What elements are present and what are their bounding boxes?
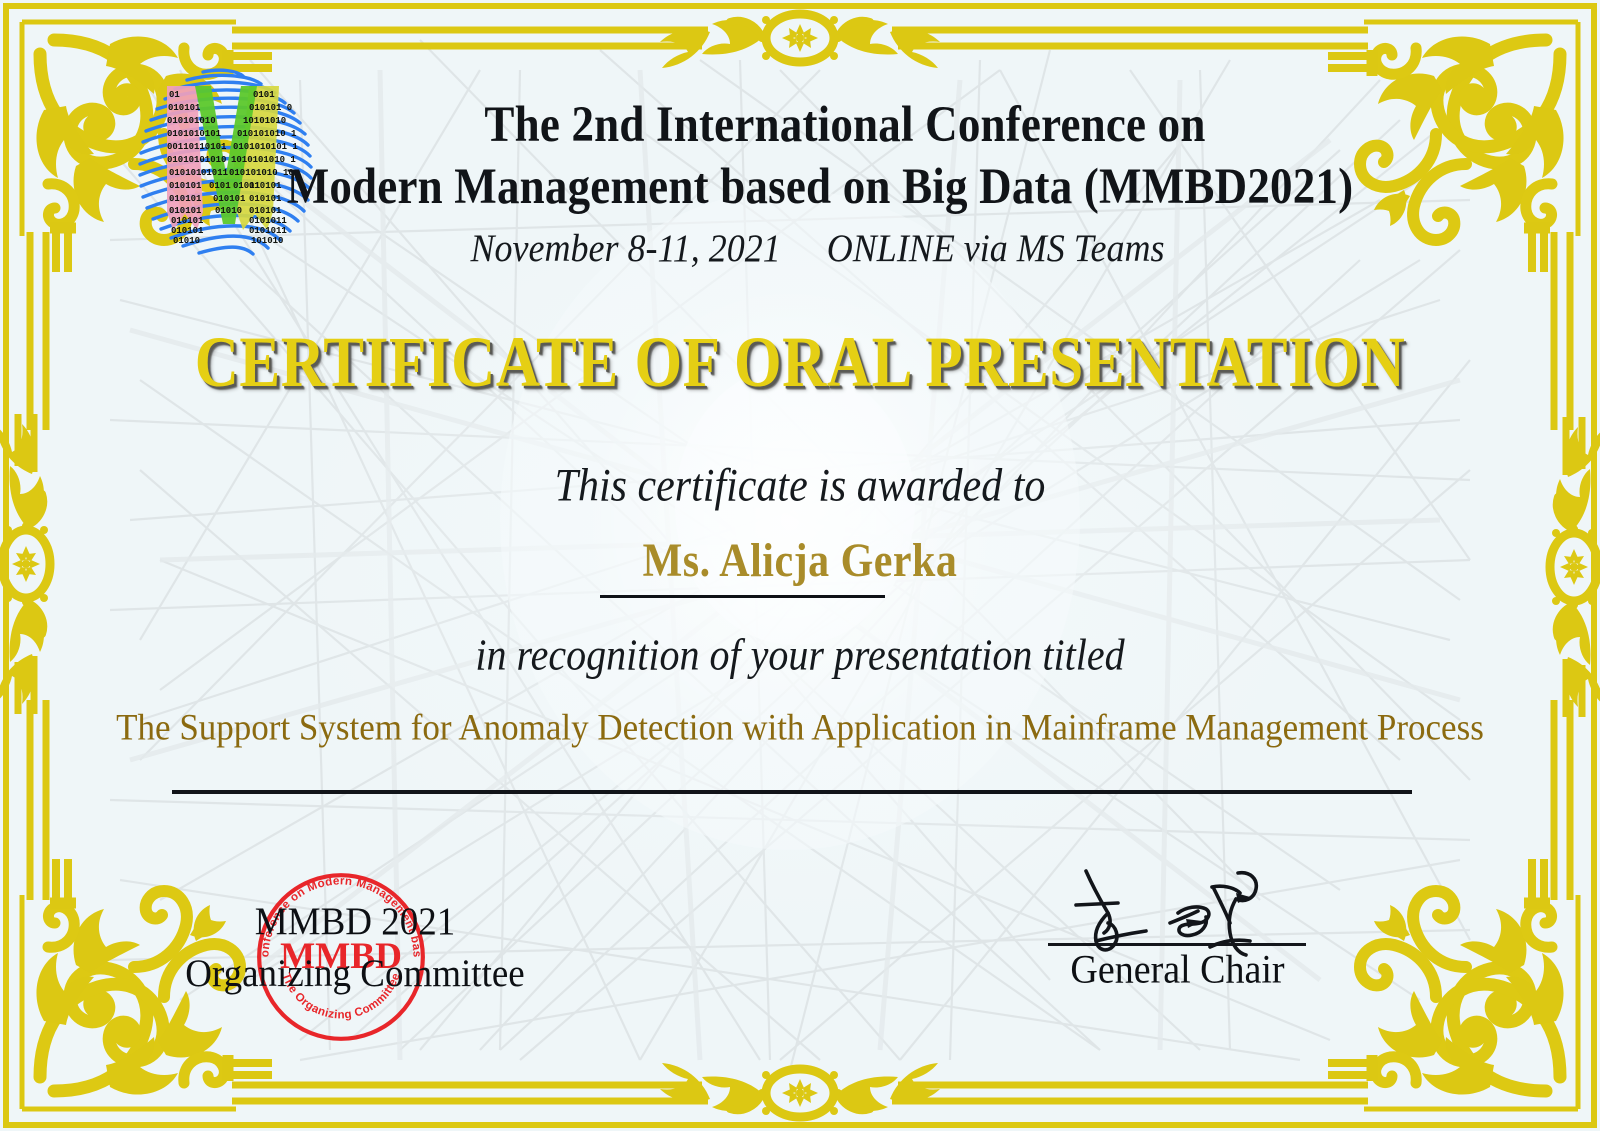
recognition-label: in recognition of your presentation titl… [0, 628, 1600, 681]
awardee-name: Ms. Alicja Gerka [0, 534, 1600, 589]
conference-date: November 8-11, 2021 [471, 226, 781, 270]
certificate-page: 010101 010101010101 0 01010101010101010 … [0, 0, 1600, 1131]
committee-line1: MMBD 2021 [155, 897, 555, 949]
organizing-committee-label: MMBD 2021 Organizing Committee [155, 897, 555, 1001]
presentation-title: The Support System for Anomaly Detection… [105, 705, 1495, 752]
presentation-title-underline [172, 790, 1412, 794]
awarded-to-label: This certificate is awarded to [0, 459, 1600, 513]
awardee-name-underline [600, 595, 885, 598]
conference-title-line1: The 2nd International Conference on [0, 95, 1600, 153]
conference-venue: ONLINE via MS Teams [827, 226, 1165, 270]
certificate-title: CERTIFICATE OF ORAL PRESENTATION [0, 321, 1600, 404]
committee-line2: Organizing Committee [155, 949, 555, 1001]
conference-title-line2: Modern Management based on Big Data (MMB… [0, 157, 1600, 215]
conference-date-venue: November 8-11, 2021 ONLINE via MS Teams [0, 225, 1600, 271]
general-chair-label: General Chair [1000, 947, 1355, 994]
